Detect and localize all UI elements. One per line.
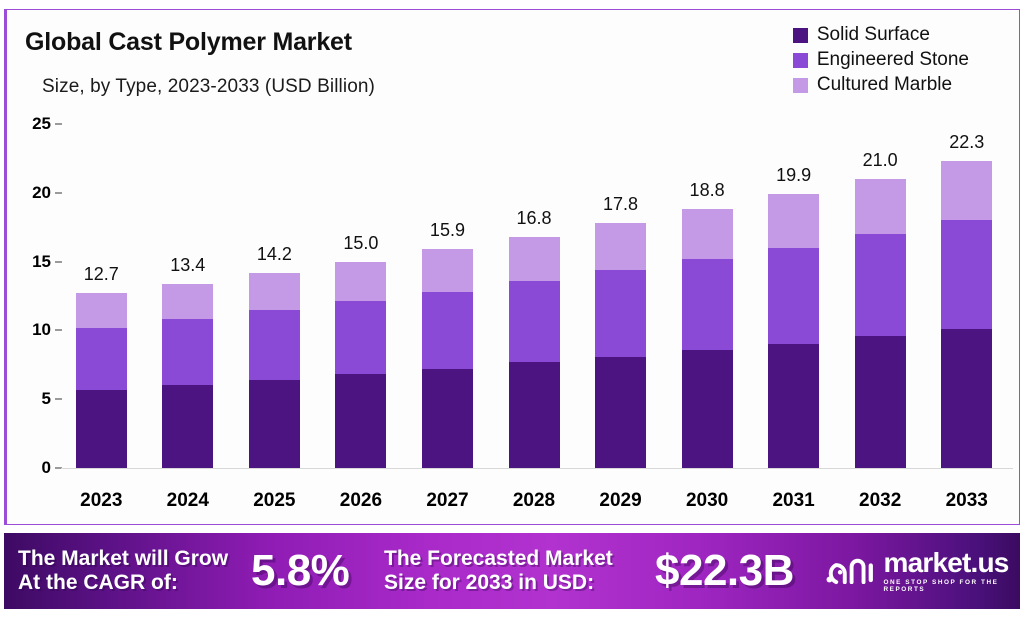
bar-segment-solid-surface[interactable] xyxy=(509,362,560,468)
bar-segment-cultured-marble[interactable] xyxy=(855,179,906,234)
bar-segment-engineered-stone[interactable] xyxy=(941,220,992,329)
bar-2028[interactable]: 16.8 xyxy=(509,237,560,468)
y-axis-tick-mark xyxy=(55,329,62,331)
forecast-label: The Forecasted Market Size for 2033 in U… xyxy=(384,547,613,596)
x-axis-tick-label: 2028 xyxy=(513,490,555,512)
summary-banner: The Market will Grow At the CAGR of: 5.8… xyxy=(4,533,1020,609)
x-axis-tick-label: 2023 xyxy=(80,490,122,512)
y-axis-tick-mark xyxy=(55,123,62,125)
bar-segment-solid-surface[interactable] xyxy=(162,385,213,468)
cagr-value: 5.8% xyxy=(251,546,349,596)
bar-segment-solid-surface[interactable] xyxy=(422,369,473,468)
bar-value-label: 16.8 xyxy=(516,208,551,229)
chart-card: Global Cast Polymer Market Size, by Type… xyxy=(4,9,1020,525)
bar-segment-engineered-stone[interactable] xyxy=(162,319,213,385)
bar-2025[interactable]: 14.2 xyxy=(249,273,300,468)
cagr-label-line2: At the CAGR of: xyxy=(18,571,178,594)
y-axis-tick-mark xyxy=(55,261,62,263)
x-axis-tick-label: 2031 xyxy=(772,490,814,512)
bar-segment-cultured-marble[interactable] xyxy=(509,237,560,281)
bar-2027[interactable]: 15.9 xyxy=(422,249,473,468)
bar-2024[interactable]: 13.4 xyxy=(162,284,213,468)
bar-segment-solid-surface[interactable] xyxy=(335,374,386,468)
bar-segment-cultured-marble[interactable] xyxy=(162,284,213,320)
bar-2030[interactable]: 18.8 xyxy=(682,209,733,468)
bar-segment-solid-surface[interactable] xyxy=(768,344,819,468)
bar-2032[interactable]: 21.0 xyxy=(855,179,906,468)
forecast-label-line2: Size for 2033 in USD: xyxy=(384,571,594,594)
y-axis-tick-mark xyxy=(55,398,62,400)
bar-segment-engineered-stone[interactable] xyxy=(509,281,560,362)
bar-value-label: 13.4 xyxy=(170,255,205,276)
bar-segment-cultured-marble[interactable] xyxy=(335,262,386,302)
bar-segment-engineered-stone[interactable] xyxy=(249,310,300,380)
cagr-label-line1: The Market will Grow xyxy=(18,547,228,570)
forecast-value: $22.3B xyxy=(655,546,794,596)
logo-text: market.us ONE STOP SHOP FOR THE REPORTS xyxy=(883,549,1020,593)
logo-wordmark: market.us xyxy=(883,549,1020,577)
y-axis-tick-label: 20 xyxy=(7,183,51,203)
bar-2033[interactable]: 22.3 xyxy=(941,161,992,468)
y-axis-tick-label: 5 xyxy=(7,389,51,409)
x-axis-tick-label: 2033 xyxy=(946,490,988,512)
bar-segment-engineered-stone[interactable] xyxy=(595,270,646,357)
bar-2023[interactable]: 12.7 xyxy=(76,293,127,468)
x-axis-tick-label: 2032 xyxy=(859,490,901,512)
bar-segment-solid-surface[interactable] xyxy=(855,336,906,468)
bar-value-label: 19.9 xyxy=(776,165,811,186)
bar-segment-cultured-marble[interactable] xyxy=(249,273,300,310)
x-axis-tick-label: 2024 xyxy=(167,490,209,512)
x-axis-line xyxy=(61,468,1013,469)
logo-tagline: ONE STOP SHOP FOR THE REPORTS xyxy=(883,580,1020,593)
bar-2029[interactable]: 17.8 xyxy=(595,223,646,468)
bar-segment-engineered-stone[interactable] xyxy=(422,292,473,369)
bar-segment-cultured-marble[interactable] xyxy=(768,194,819,248)
bar-segment-engineered-stone[interactable] xyxy=(335,301,386,374)
cagr-label: The Market will Grow At the CAGR of: xyxy=(18,547,228,596)
infographic-root: Global Cast Polymer Market Size, by Type… xyxy=(0,0,1024,621)
x-axis-tick-label: 2029 xyxy=(599,490,641,512)
bar-segment-engineered-stone[interactable] xyxy=(855,234,906,336)
bar-segment-solid-surface[interactable] xyxy=(76,390,127,468)
bar-value-label: 14.2 xyxy=(257,244,292,265)
y-axis-tick-mark xyxy=(55,192,62,194)
bar-segment-engineered-stone[interactable] xyxy=(682,259,733,350)
bar-value-label: 17.8 xyxy=(603,194,638,215)
market-us-logo[interactable]: market.us ONE STOP SHOP FOR THE REPORTS xyxy=(826,549,1020,593)
bar-2031[interactable]: 19.9 xyxy=(768,194,819,468)
bar-segment-solid-surface[interactable] xyxy=(941,329,992,468)
bar-2026[interactable]: 15.0 xyxy=(335,262,386,468)
bar-value-label: 15.9 xyxy=(430,220,465,241)
y-axis-tick-label: 15 xyxy=(7,252,51,272)
bar-segment-engineered-stone[interactable] xyxy=(76,328,127,390)
bar-segment-cultured-marble[interactable] xyxy=(422,249,473,292)
bar-segment-cultured-marble[interactable] xyxy=(941,161,992,220)
bar-segment-cultured-marble[interactable] xyxy=(682,209,733,259)
market-us-logo-icon xyxy=(826,554,875,588)
plot-area: 051015202512.7202313.4202414.2202515.020… xyxy=(7,10,1023,526)
x-axis-tick-label: 2025 xyxy=(253,490,295,512)
bar-value-label: 18.8 xyxy=(690,180,725,201)
y-axis-tick-label: 0 xyxy=(7,458,51,478)
bar-segment-solid-surface[interactable] xyxy=(682,350,733,468)
x-axis-tick-label: 2026 xyxy=(340,490,382,512)
forecast-label-line1: The Forecasted Market xyxy=(384,547,613,570)
bar-value-label: 12.7 xyxy=(84,264,119,285)
y-axis-tick-label: 25 xyxy=(7,114,51,134)
bar-value-label: 21.0 xyxy=(863,150,898,171)
y-axis-tick-label: 10 xyxy=(7,320,51,340)
bar-value-label: 15.0 xyxy=(343,233,378,254)
bar-segment-cultured-marble[interactable] xyxy=(76,293,127,327)
bar-segment-cultured-marble[interactable] xyxy=(595,223,646,270)
x-axis-tick-label: 2030 xyxy=(686,490,728,512)
bar-value-label: 22.3 xyxy=(949,132,984,153)
bar-segment-solid-surface[interactable] xyxy=(595,357,646,468)
bar-segment-engineered-stone[interactable] xyxy=(768,248,819,344)
bar-segment-solid-surface[interactable] xyxy=(249,380,300,468)
x-axis-tick-label: 2027 xyxy=(426,490,468,512)
